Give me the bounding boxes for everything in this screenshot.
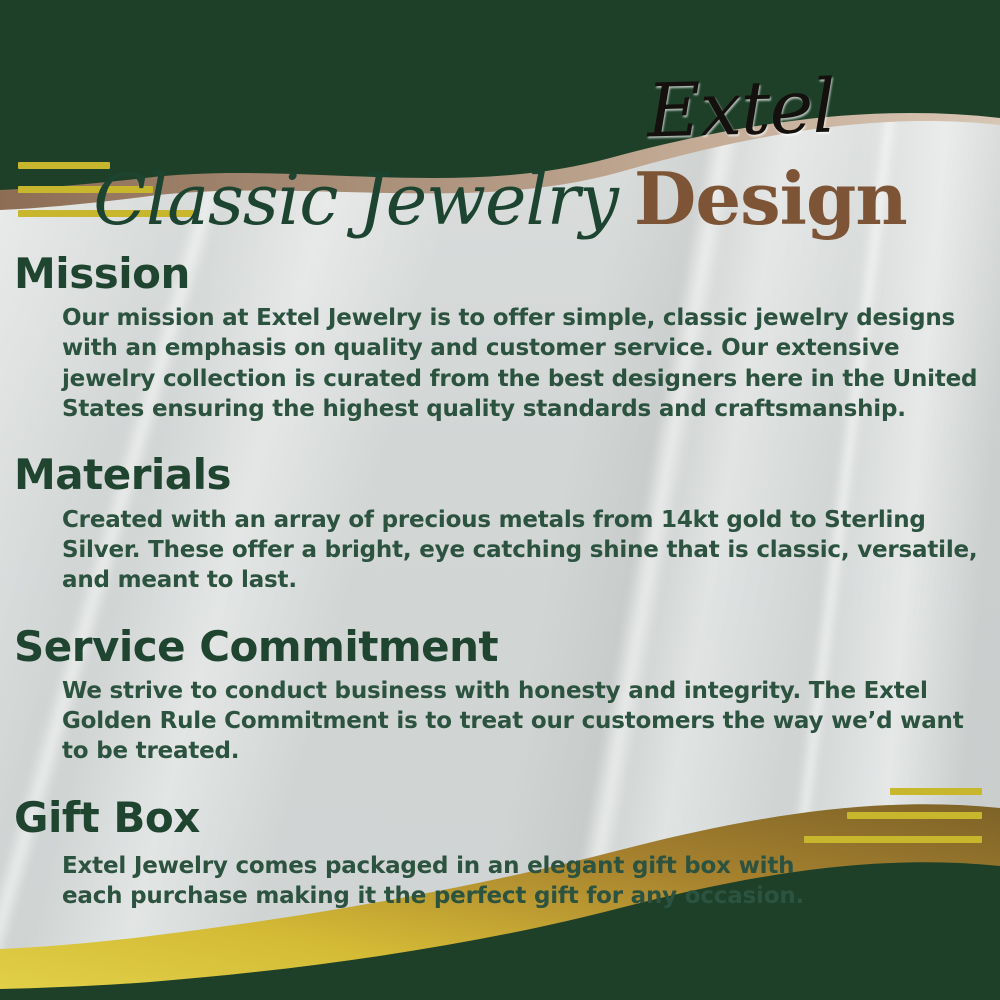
section-heading: Materials: [14, 451, 980, 498]
content-sections: Mission Our mission at Extel Jewelry is …: [0, 250, 1000, 911]
section-gift-box: Gift Box Extel Jewelry comes packaged in…: [0, 794, 1000, 912]
page-title-accent: Design: [634, 156, 907, 241]
page-title: Classic JewelryDesign: [0, 156, 1000, 241]
section-mission: Mission Our mission at Extel Jewelry is …: [0, 250, 1000, 424]
section-body: Extel Jewelry comes packaged in an elega…: [62, 851, 822, 912]
section-heading: Mission: [14, 250, 980, 297]
section-body: Created with an array of precious metals…: [62, 505, 980, 596]
section-materials: Materials Created with an array of preci…: [0, 451, 1000, 595]
section-body: We strive to conduct business with hones…: [62, 676, 980, 767]
page-title-main: Classic Jewelry: [93, 159, 618, 241]
section-service-commitment: Service Commitment We strive to conduct …: [0, 623, 1000, 767]
section-body: Our mission at Extel Jewelry is to offer…: [62, 303, 980, 424]
poster-canvas: Extel Classic JewelryDesign Mission Our …: [0, 0, 1000, 1000]
section-heading: Service Commitment: [14, 623, 980, 670]
brand-logo: Extel: [646, 70, 836, 149]
section-heading: Gift Box: [14, 794, 980, 841]
